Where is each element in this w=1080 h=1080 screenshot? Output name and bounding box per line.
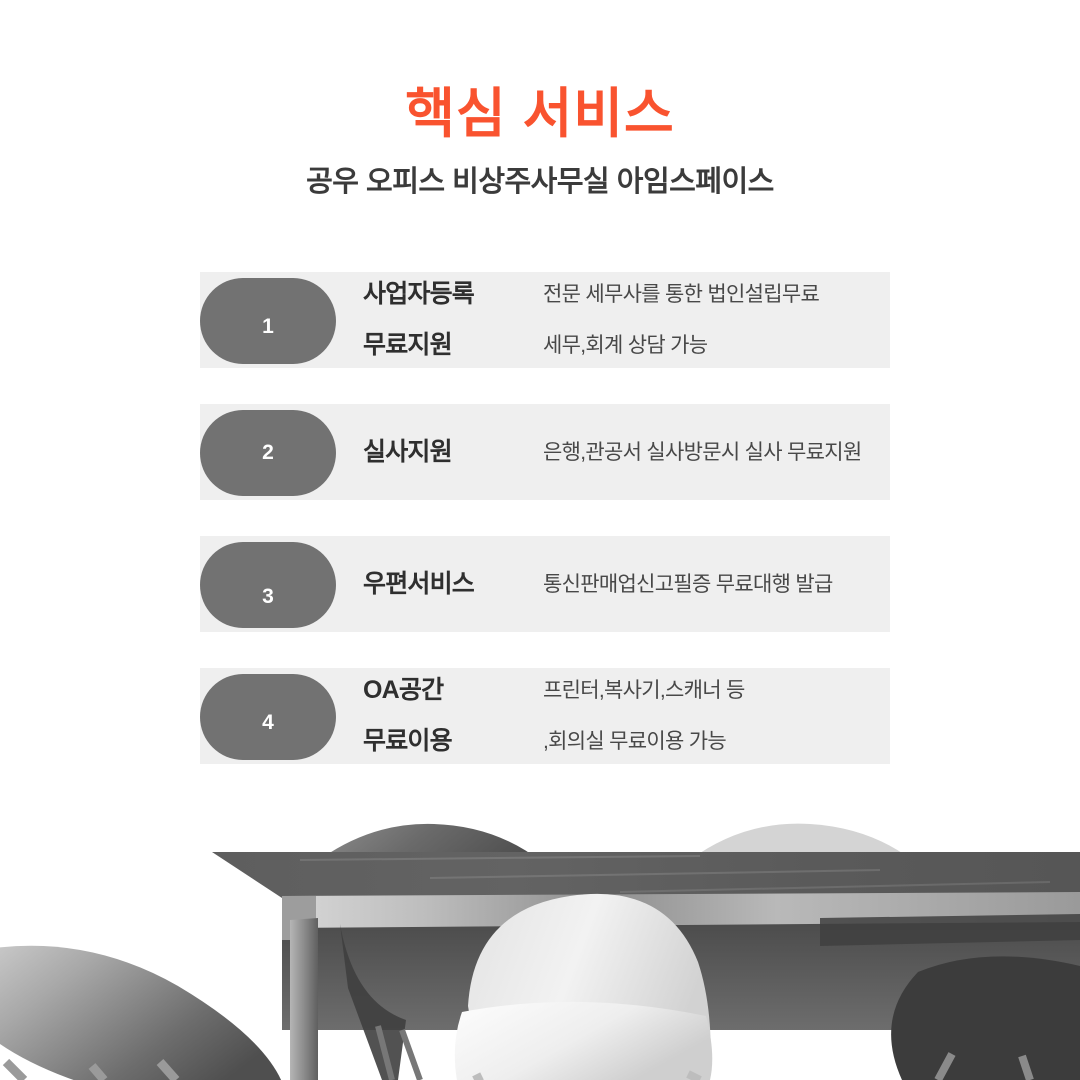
service-row[interactable]: 1 사업자등록 무료지원 전문 세무사를 통한 법인설립무료 세무,회계 상담 … <box>0 272 1080 368</box>
service-description: 프린터,복사기,스캐너 등 ,회의실 무료이용 가능 <box>543 668 888 764</box>
service-row[interactable]: 4 OA공간 무료이용 프린터,복사기,스캐너 등 ,회의실 무료이용 가능 <box>0 668 1080 764</box>
service-title-line: 실사지원 <box>363 440 538 465</box>
service-title: 사업자등록 무료지원 <box>363 272 538 368</box>
header: 핵심 서비스 공우 오피스 비상주사무실 아임스페이스 <box>0 0 1080 199</box>
service-title: 실사지원 <box>363 404 538 500</box>
service-description-line: 전문 세무사를 통한 법인설립무료 <box>543 284 888 305</box>
service-number-label: 2 <box>262 441 274 465</box>
service-description-line: 프린터,복사기,스캐너 등 <box>543 680 888 701</box>
service-number-label: 3 <box>262 585 274 609</box>
service-description: 통신판매업신고필증 무료대행 발급 <box>543 536 888 632</box>
service-number-badge: 1 <box>200 278 336 364</box>
service-description: 전문 세무사를 통한 법인설립무료 세무,회계 상담 가능 <box>543 272 888 368</box>
service-row[interactable]: 3 우편서비스 통신판매업신고필증 무료대행 발급 <box>0 536 1080 632</box>
service-number-badge: 4 <box>200 674 336 760</box>
service-number-label: 1 <box>262 315 274 339</box>
page-subtitle: 공우 오피스 비상주사무실 아임스페이스 <box>0 143 1080 200</box>
service-title-line: OA공간 <box>363 678 538 703</box>
service-row[interactable]: 2 실사지원 은행,관공서 실사방문시 실사 무료지원 <box>0 404 1080 500</box>
service-description: 은행,관공서 실사방문시 실사 무료지원 <box>543 404 888 500</box>
service-number-label: 4 <box>262 711 274 735</box>
page-root: 핵심 서비스 공우 오피스 비상주사무실 아임스페이스 1 사업자등록 무료지원… <box>0 0 1080 1080</box>
table-leg-left <box>290 918 318 1080</box>
office-photo <box>0 800 1080 1080</box>
center-chair-seat <box>455 1002 712 1080</box>
service-list: 1 사업자등록 무료지원 전문 세무사를 통한 법인설립무료 세무,회계 상담 … <box>0 272 1080 800</box>
service-title: 우편서비스 <box>363 536 538 632</box>
service-title-line: 무료이용 <box>363 729 538 754</box>
service-title: OA공간 무료이용 <box>363 668 538 764</box>
office-photo-illustration <box>0 800 1080 1080</box>
service-description-line: ,회의실 무료이용 가능 <box>543 731 888 752</box>
service-description-line: 은행,관공서 실사방문시 실사 무료지원 <box>543 442 888 463</box>
service-description-line: 통신판매업신고필증 무료대행 발급 <box>543 574 888 595</box>
service-title-line: 우편서비스 <box>363 572 538 597</box>
service-number-badge: 2 <box>200 410 336 496</box>
service-title-line: 사업자등록 <box>363 282 538 307</box>
service-title-line: 무료지원 <box>363 333 538 358</box>
service-description-line: 세무,회계 상담 가능 <box>543 335 888 356</box>
page-title: 핵심 서비스 <box>0 86 1080 143</box>
right-foreground-chair <box>891 956 1080 1080</box>
service-number-badge: 3 <box>200 542 336 628</box>
